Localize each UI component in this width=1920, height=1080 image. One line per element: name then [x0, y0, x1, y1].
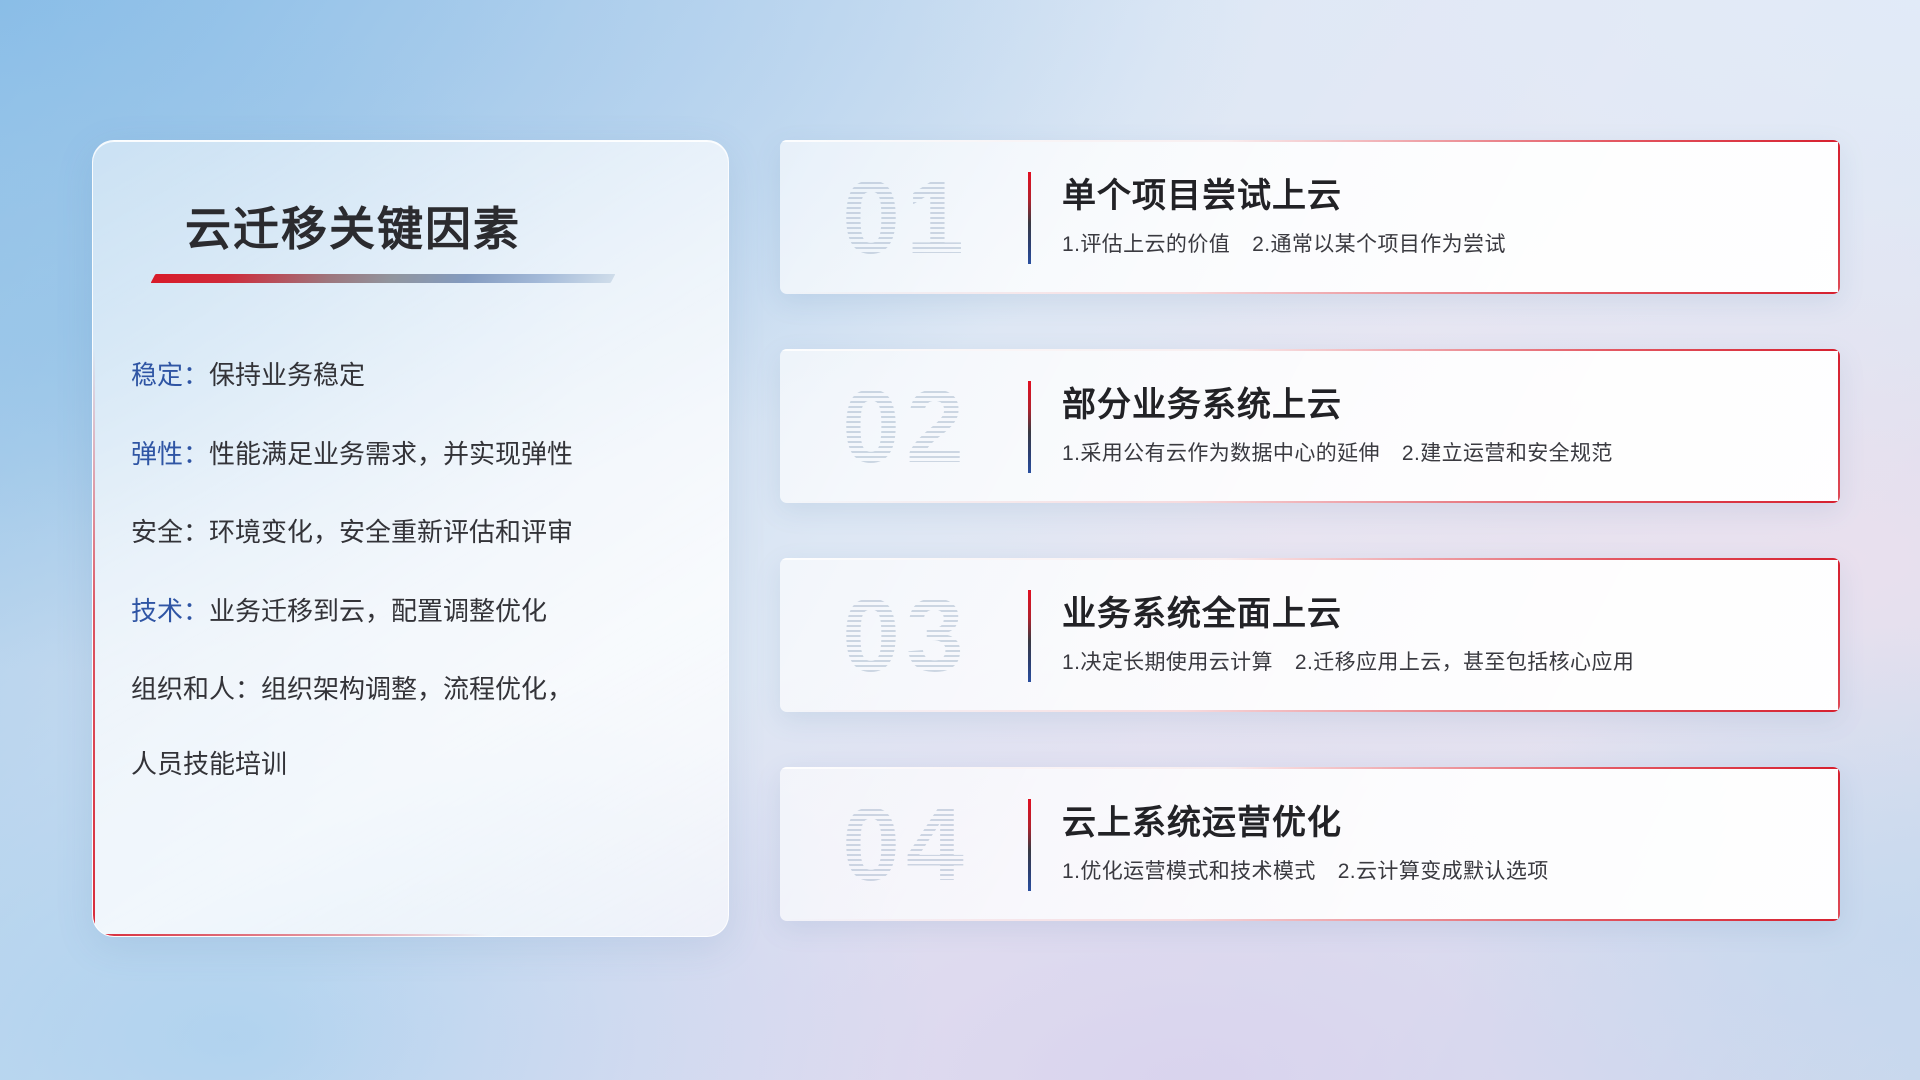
list-item: 组织和人：组织架构调整，流程优化， 人员技能培训 — [131, 673, 702, 780]
factor-value: 组织架构调整，流程优化， — [261, 674, 573, 704]
list-item: 安全：环境变化，安全重新评估和评审 — [131, 516, 702, 549]
page-title: 云迁移关键因素 — [185, 193, 521, 259]
panel-bottom-accent — [93, 934, 487, 936]
card-top-accent — [780, 767, 1840, 769]
step-desc-part-1: 1.采用公有云作为数据中心的延伸 — [1062, 442, 1380, 465]
step-title: 云上系统运营优化 — [1062, 795, 1342, 844]
step-number-watermark: 03 — [808, 580, 1004, 692]
factor-label: 安全： — [131, 517, 209, 547]
step-desc-part-2: 2.迁移应用上云，甚至包括核心应用 — [1295, 651, 1634, 674]
card-top-accent — [780, 558, 1840, 560]
step-desc-part-1: 1.决定长期使用云计算 — [1062, 651, 1273, 674]
step-card-03[interactable]: 03 业务系统全面上云 1.决定长期使用云计算2.迁移应用上云，甚至包括核心应用 — [780, 558, 1840, 712]
card-right-accent — [1838, 767, 1840, 921]
step-card-01[interactable]: 01 单个项目尝试上云 1.评估上云的价值2.通常以某个项目作为尝试 — [780, 140, 1840, 294]
card-bottom-accent — [780, 919, 1840, 921]
card-right-accent — [1838, 140, 1840, 294]
step-description: 1.优化运营模式和技术模式2.云计算变成默认选项 — [1062, 855, 1549, 885]
factor-label: 技术： — [131, 596, 209, 626]
step-desc-part-2: 2.云计算变成默认选项 — [1338, 860, 1549, 883]
step-desc-part-1: 1.优化运营模式和技术模式 — [1062, 860, 1316, 883]
step-number-watermark: 01 — [808, 162, 1004, 274]
factor-value: 性能满足业务需求，并实现弹性 — [209, 439, 573, 469]
step-desc-part-2: 2.建立运营和安全规范 — [1402, 442, 1613, 465]
step-number-watermark: 04 — [808, 789, 1004, 901]
step-description: 1.决定长期使用云计算2.迁移应用上云，甚至包括核心应用 — [1062, 646, 1634, 676]
step-title: 单个项目尝试上云 — [1062, 168, 1342, 217]
key-factors-list: 稳定：保持业务稳定 弹性：性能满足业务需求，并实现弹性 安全：环境变化，安全重新… — [131, 359, 702, 798]
step-desc-part-1: 1.评估上云的价值 — [1062, 233, 1230, 256]
step-divider-bar — [1028, 799, 1031, 891]
key-factors-panel: 云迁移关键因素 稳定：保持业务稳定 弹性：性能满足业务需求，并实现弹性 安全：环… — [92, 140, 729, 937]
list-item: 弹性：性能满足业务需求，并实现弹性 — [131, 438, 702, 471]
step-desc-part-2: 2.通常以某个项目作为尝试 — [1252, 233, 1506, 256]
step-card-02[interactable]: 02 部分业务系统上云 1.采用公有云作为数据中心的延伸2.建立运营和安全规范 — [780, 349, 1840, 503]
step-description: 1.采用公有云作为数据中心的延伸2.建立运营和安全规范 — [1062, 437, 1613, 467]
factor-label: 弹性： — [131, 439, 209, 469]
factor-value: 保持业务稳定 — [209, 360, 365, 390]
step-divider-bar — [1028, 172, 1031, 264]
step-title: 部分业务系统上云 — [1062, 377, 1342, 426]
slide-canvas: 云迁移关键因素 稳定：保持业务稳定 弹性：性能满足业务需求，并实现弹性 安全：环… — [0, 0, 1920, 1080]
title-underline-gradient — [151, 274, 616, 283]
list-item: 技术：业务迁移到云，配置调整优化 — [131, 595, 702, 628]
step-description: 1.评估上云的价值2.通常以某个项目作为尝试 — [1062, 228, 1506, 258]
step-divider-bar — [1028, 590, 1031, 682]
card-bottom-accent — [780, 501, 1840, 503]
factor-value-continued: 人员技能培训 — [131, 748, 702, 781]
card-right-accent — [1838, 558, 1840, 712]
card-top-accent — [780, 140, 1840, 142]
step-card-04[interactable]: 04 云上系统运营优化 1.优化运营模式和技术模式2.云计算变成默认选项 — [780, 767, 1840, 921]
factor-value: 业务迁移到云，配置调整优化 — [209, 596, 547, 626]
panel-left-accent — [93, 348, 95, 937]
factor-value: 环境变化，安全重新评估和评审 — [209, 517, 573, 547]
step-number-watermark: 02 — [808, 371, 1004, 483]
step-title: 业务系统全面上云 — [1062, 586, 1342, 635]
card-bottom-accent — [780, 710, 1840, 712]
step-divider-bar — [1028, 381, 1031, 473]
list-item: 稳定：保持业务稳定 — [131, 359, 702, 392]
card-right-accent — [1838, 349, 1840, 503]
card-top-accent — [780, 349, 1840, 351]
card-bottom-accent — [780, 292, 1840, 294]
factor-label: 稳定： — [131, 360, 209, 390]
factor-label: 组织和人： — [131, 674, 261, 704]
